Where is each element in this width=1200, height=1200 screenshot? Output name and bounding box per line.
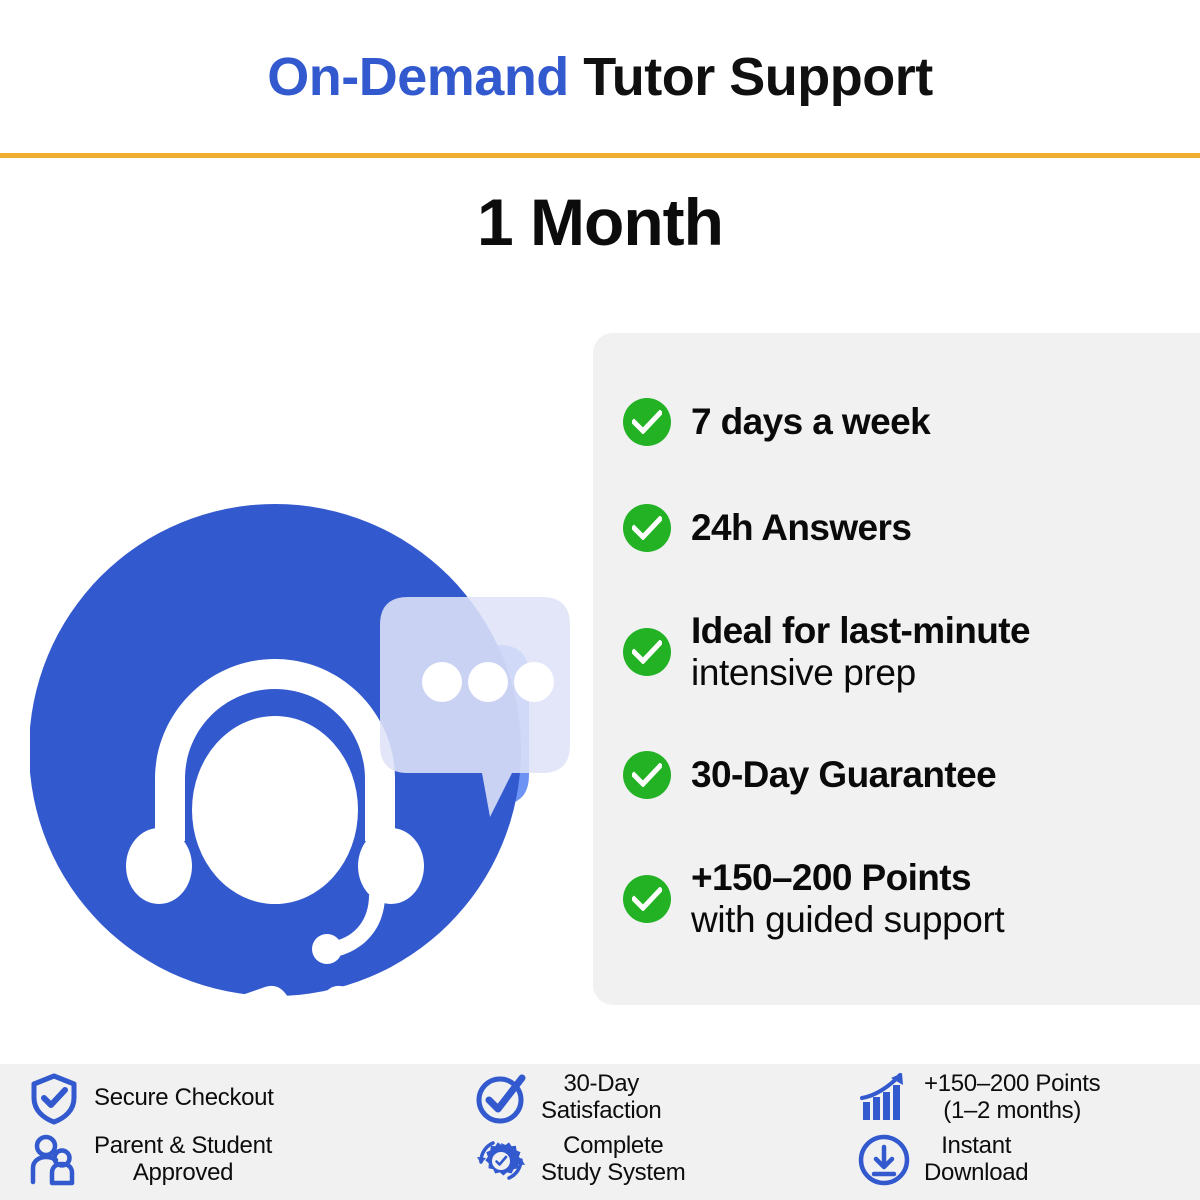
trust-badge-label: Secure Checkout <box>94 1085 274 1112</box>
trust-badge-label: Parent & Student Approved <box>94 1133 272 1187</box>
parent-student-icon <box>26 1132 82 1188</box>
feature-strong: 7 days a week <box>691 401 930 442</box>
trust-badge-label: Complete Study System <box>541 1133 685 1187</box>
checkmark-icon <box>632 763 662 787</box>
checkmark-icon <box>632 410 662 434</box>
feature-text: 7 days a week <box>691 401 930 442</box>
plan-title: 1 Month <box>0 183 1200 262</box>
trust-badge: Secure Checkout <box>26 1070 274 1126</box>
feature-strong: Ideal for last-minute <box>691 610 1030 651</box>
checkmark-icon <box>632 516 662 540</box>
page-title-accent: On-Demand <box>267 47 569 107</box>
check-circle-icon <box>623 628 671 676</box>
header-divider <box>0 153 1200 158</box>
feature-text: Ideal for last-minute intensive prep <box>691 610 1030 693</box>
gear-refresh-icon <box>473 1132 529 1188</box>
feature-item: 24h Answers <box>623 504 1200 552</box>
feature-sub: intensive prep <box>691 652 1030 693</box>
feature-strong: +150–200 Points <box>691 857 1004 898</box>
promo-graphic: On-Demand Tutor Support 1 Month <box>0 0 1200 1200</box>
feature-item: 30-Day Guarantee <box>623 751 1200 799</box>
shield-check-icon <box>26 1070 82 1126</box>
checkmark-icon <box>632 887 662 911</box>
tutor-support-headset-avatar-icon <box>30 300 570 1000</box>
trust-badge: Parent & Student Approved <box>26 1132 272 1188</box>
trust-badge-label: 30-Day Satisfaction <box>541 1071 661 1125</box>
feature-sub: with guided support <box>691 899 1004 940</box>
page-title: On-Demand Tutor Support <box>267 50 932 104</box>
check-circle-icon <box>623 875 671 923</box>
footer-column-3: +150–200 Points (1–2 months) Instant Dow… <box>826 1064 1200 1200</box>
checkmark-icon <box>632 640 662 664</box>
bar-chart-growth-icon <box>856 1070 912 1126</box>
typing-dots-icon <box>422 662 554 702</box>
header: On-Demand Tutor Support <box>0 0 1200 153</box>
trust-badge: Complete Study System <box>473 1132 685 1188</box>
feature-item: +150–200 Points with guided support <box>623 857 1200 940</box>
feature-strong: 30-Day Guarantee <box>691 754 996 795</box>
check-circle-icon <box>623 504 671 552</box>
feature-text: +150–200 Points with guided support <box>691 857 1004 940</box>
feature-list-card: 7 days a week 24h Answers Ideal for last… <box>593 333 1200 1005</box>
trust-badge: Instant Download <box>856 1132 1028 1188</box>
feature-item: 7 days a week <box>623 398 1200 446</box>
feature-item: Ideal for last-minute intensive prep <box>623 610 1200 693</box>
footer-column-2: 30-Day Satisfaction <box>413 1064 826 1200</box>
trust-badges-footer: Secure Checkout Parent & Student Approve… <box>0 1064 1200 1200</box>
page-title-plain: Tutor Support <box>569 47 933 107</box>
feature-text: 24h Answers <box>691 507 911 548</box>
circle-check-icon <box>473 1070 529 1126</box>
footer-column-1: Secure Checkout Parent & Student Approve… <box>0 1064 413 1200</box>
trust-badge: +150–200 Points (1–2 months) <box>856 1070 1100 1126</box>
trust-badge-label: +150–200 Points (1–2 months) <box>924 1071 1100 1125</box>
feature-strong: 24h Answers <box>691 507 911 548</box>
check-circle-icon <box>623 398 671 446</box>
tutor-support-illustration <box>30 300 570 1000</box>
download-circle-icon <box>856 1132 912 1188</box>
check-circle-icon <box>623 751 671 799</box>
trust-badge-label: Instant Download <box>924 1133 1028 1187</box>
trust-badge: 30-Day Satisfaction <box>473 1070 661 1126</box>
feature-text: 30-Day Guarantee <box>691 754 996 795</box>
